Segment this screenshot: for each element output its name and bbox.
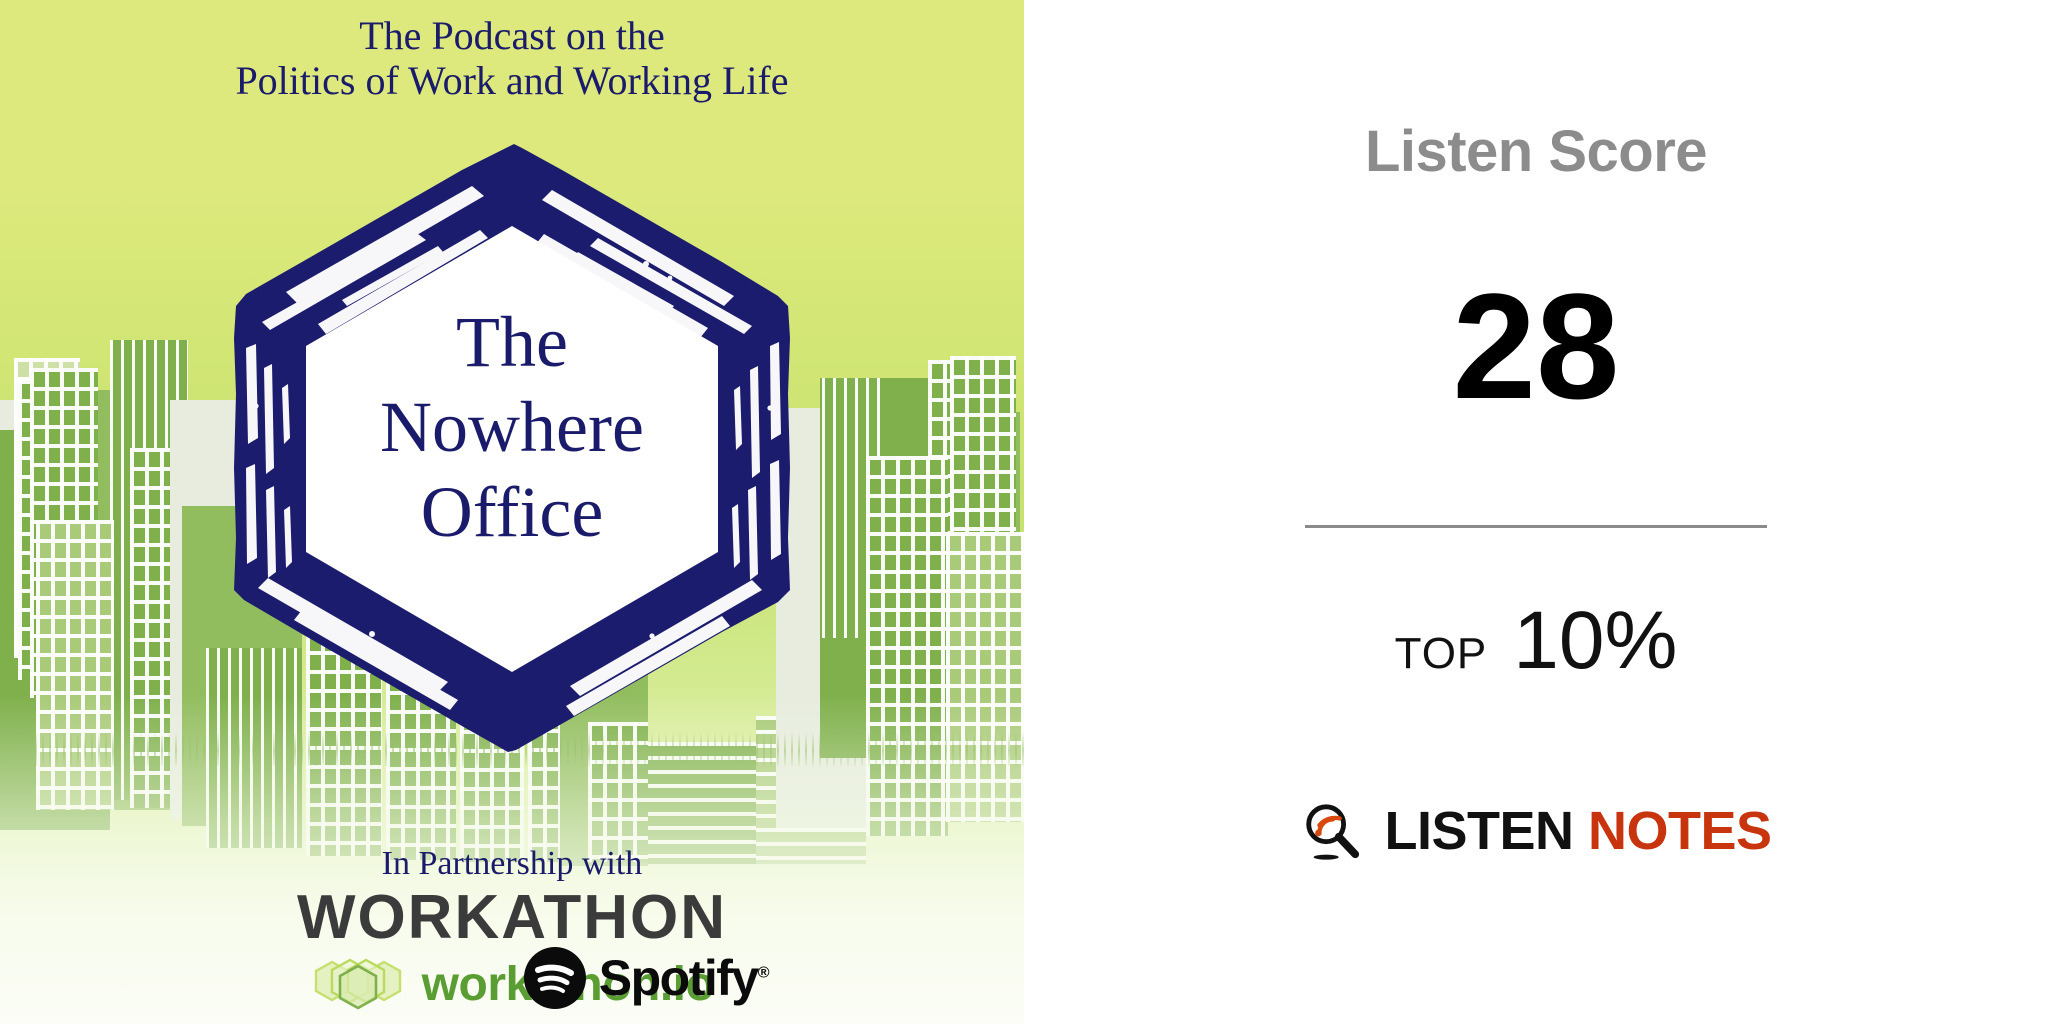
partnership-block: In Partnership with WORKATHON workathon.…	[0, 845, 1024, 1014]
workathon-hexagons-icon	[310, 954, 406, 1014]
panel-divider	[1305, 525, 1767, 528]
rank-value: 10%	[1513, 600, 1677, 682]
podcast-title: The Nowhere Office	[222, 300, 802, 555]
tagline-line-1: The Podcast on the	[0, 14, 1024, 59]
listen-notes-wordmark: LISTEN NOTES	[1384, 800, 1771, 862]
rank-prefix: TOP	[1395, 629, 1488, 679]
podcast-listen-score-card: The Podcast on the Politics of Work and …	[0, 0, 2048, 1024]
brand-notes: NOTES	[1588, 801, 1772, 861]
partnership-label: In Partnership with	[0, 845, 1024, 883]
listen-score-label: Listen Score	[1365, 118, 1707, 185]
listen-score-value: 28	[1453, 271, 1620, 421]
podcast-cover-art: The Podcast on the Politics of Work and …	[0, 0, 1024, 1024]
listen-notes-logo[interactable]: LISTEN NOTES	[1300, 800, 1771, 862]
cover-tagline: The Podcast on the Politics of Work and …	[0, 14, 1024, 104]
rank-row: TOP 10%	[1395, 600, 1678, 682]
spotify-wordmark: Spotify®	[599, 949, 768, 1007]
brand-listen: LISTEN	[1384, 801, 1573, 861]
partner-wordmark: WORKATHON	[0, 885, 1024, 950]
title-line-3: Office	[222, 470, 802, 555]
listen-notes-magnifier-rss-icon	[1300, 800, 1362, 862]
spotify-registered-mark: ®	[758, 964, 768, 981]
partner-url-row: workathon.io	[0, 954, 1024, 1014]
tagline-line-2: Politics of Work and Working Life	[0, 59, 1024, 104]
title-line-2: Nowhere	[222, 385, 802, 470]
spotify-icon	[523, 946, 587, 1010]
spotify-logo: Spotify®	[523, 946, 768, 1010]
listen-score-panel: Listen Score 28 TOP 10% LISTEN NOTES	[1024, 0, 2048, 1024]
spotify-name: Spotify	[599, 950, 758, 1006]
title-line-1: The	[222, 300, 802, 385]
